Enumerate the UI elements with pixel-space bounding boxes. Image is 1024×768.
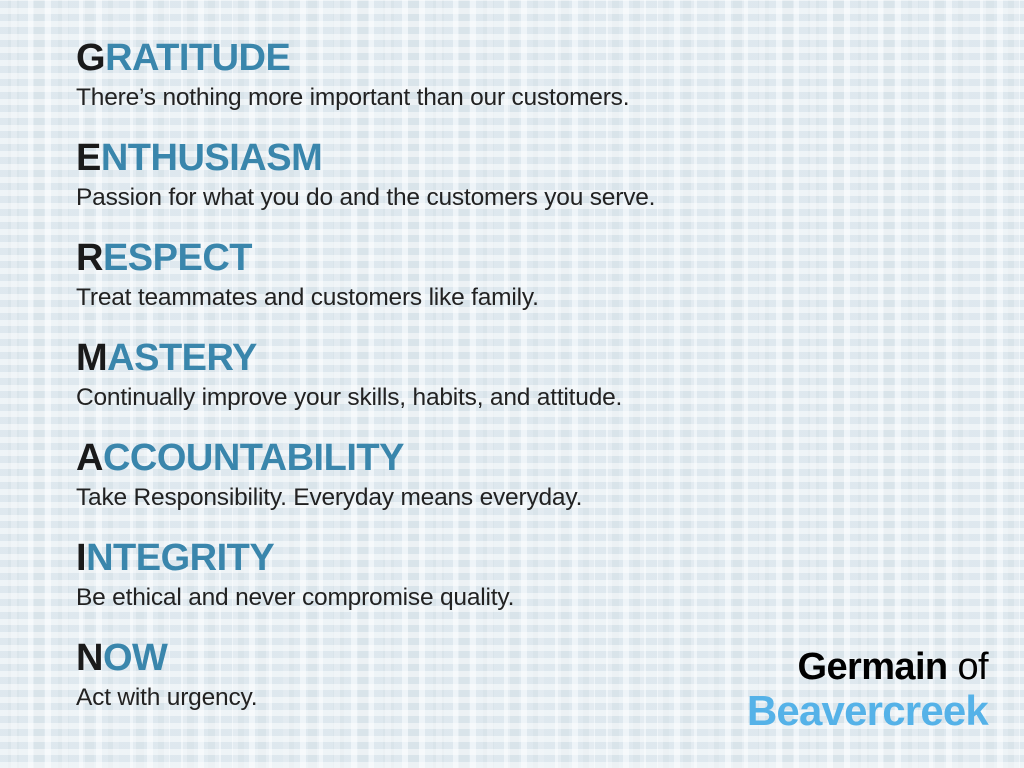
value-lead-letter-i: I — [76, 537, 86, 579]
value-lead-letter-a: A — [76, 437, 103, 479]
logo-connector: of — [958, 646, 989, 688]
value-lead-letter-m: M — [76, 337, 107, 379]
logo-location: Beavercreek — [747, 688, 988, 734]
value-rest-integrity: NTEGRITY — [86, 537, 274, 579]
value-lead-letter-e: E — [76, 137, 101, 179]
value-block-accountability: ACCOUNTABILITY Take Responsibility. Ever… — [76, 436, 976, 536]
value-title-accountability: ACCOUNTABILITY — [76, 436, 976, 480]
value-rest-respect: ESPECT — [103, 237, 252, 279]
value-rest-now: OW — [103, 637, 167, 679]
value-title-enthusiasm: ENTHUSIASM — [76, 136, 976, 180]
value-block-integrity: INTEGRITY Be ethical and never compromis… — [76, 536, 976, 636]
value-rest-enthusiasm: NTHUSIASM — [101, 137, 322, 179]
value-title-integrity: INTEGRITY — [76, 536, 976, 580]
value-block-enthusiasm: ENTHUSIASM Passion for what you do and t… — [76, 136, 976, 236]
value-block-gratitude: GRATITUDE There’s nothing more important… — [76, 36, 976, 136]
value-block-mastery: MASTERY Continually improve your skills,… — [76, 336, 976, 436]
value-title-mastery: MASTERY — [76, 336, 976, 380]
value-rest-accountability: CCOUNTABILITY — [103, 437, 404, 479]
value-title-respect: RESPECT — [76, 236, 976, 280]
value-lead-letter-g: G — [76, 37, 105, 79]
value-lead-letter-r: R — [76, 237, 103, 279]
value-block-respect: RESPECT Treat teammates and customers li… — [76, 236, 976, 336]
values-list: GRATITUDE There’s nothing more important… — [76, 36, 976, 736]
logo-brand-name: Germain — [798, 646, 948, 688]
value-description-integrity: Be ethical and never compromise quality. — [76, 582, 976, 614]
value-lead-letter-n: N — [76, 637, 103, 679]
value-description-enthusiasm: Passion for what you do and the customer… — [76, 182, 976, 214]
value-rest-gratitude: RATITUDE — [105, 37, 290, 79]
value-description-mastery: Continually improve your skills, habits,… — [76, 382, 976, 414]
value-description-gratitude: There’s nothing more important than our … — [76, 82, 976, 114]
value-rest-mastery: ASTERY — [107, 337, 257, 379]
logo-line-brand: Germain of — [747, 646, 988, 688]
core-values-page: GRATITUDE There’s nothing more important… — [0, 0, 1024, 768]
value-description-accountability: Take Responsibility. Everyday means ever… — [76, 482, 976, 514]
value-title-gratitude: GRATITUDE — [76, 36, 976, 80]
value-description-respect: Treat teammates and customers like famil… — [76, 282, 976, 314]
company-logo: Germain of Beavercreek — [747, 646, 988, 734]
